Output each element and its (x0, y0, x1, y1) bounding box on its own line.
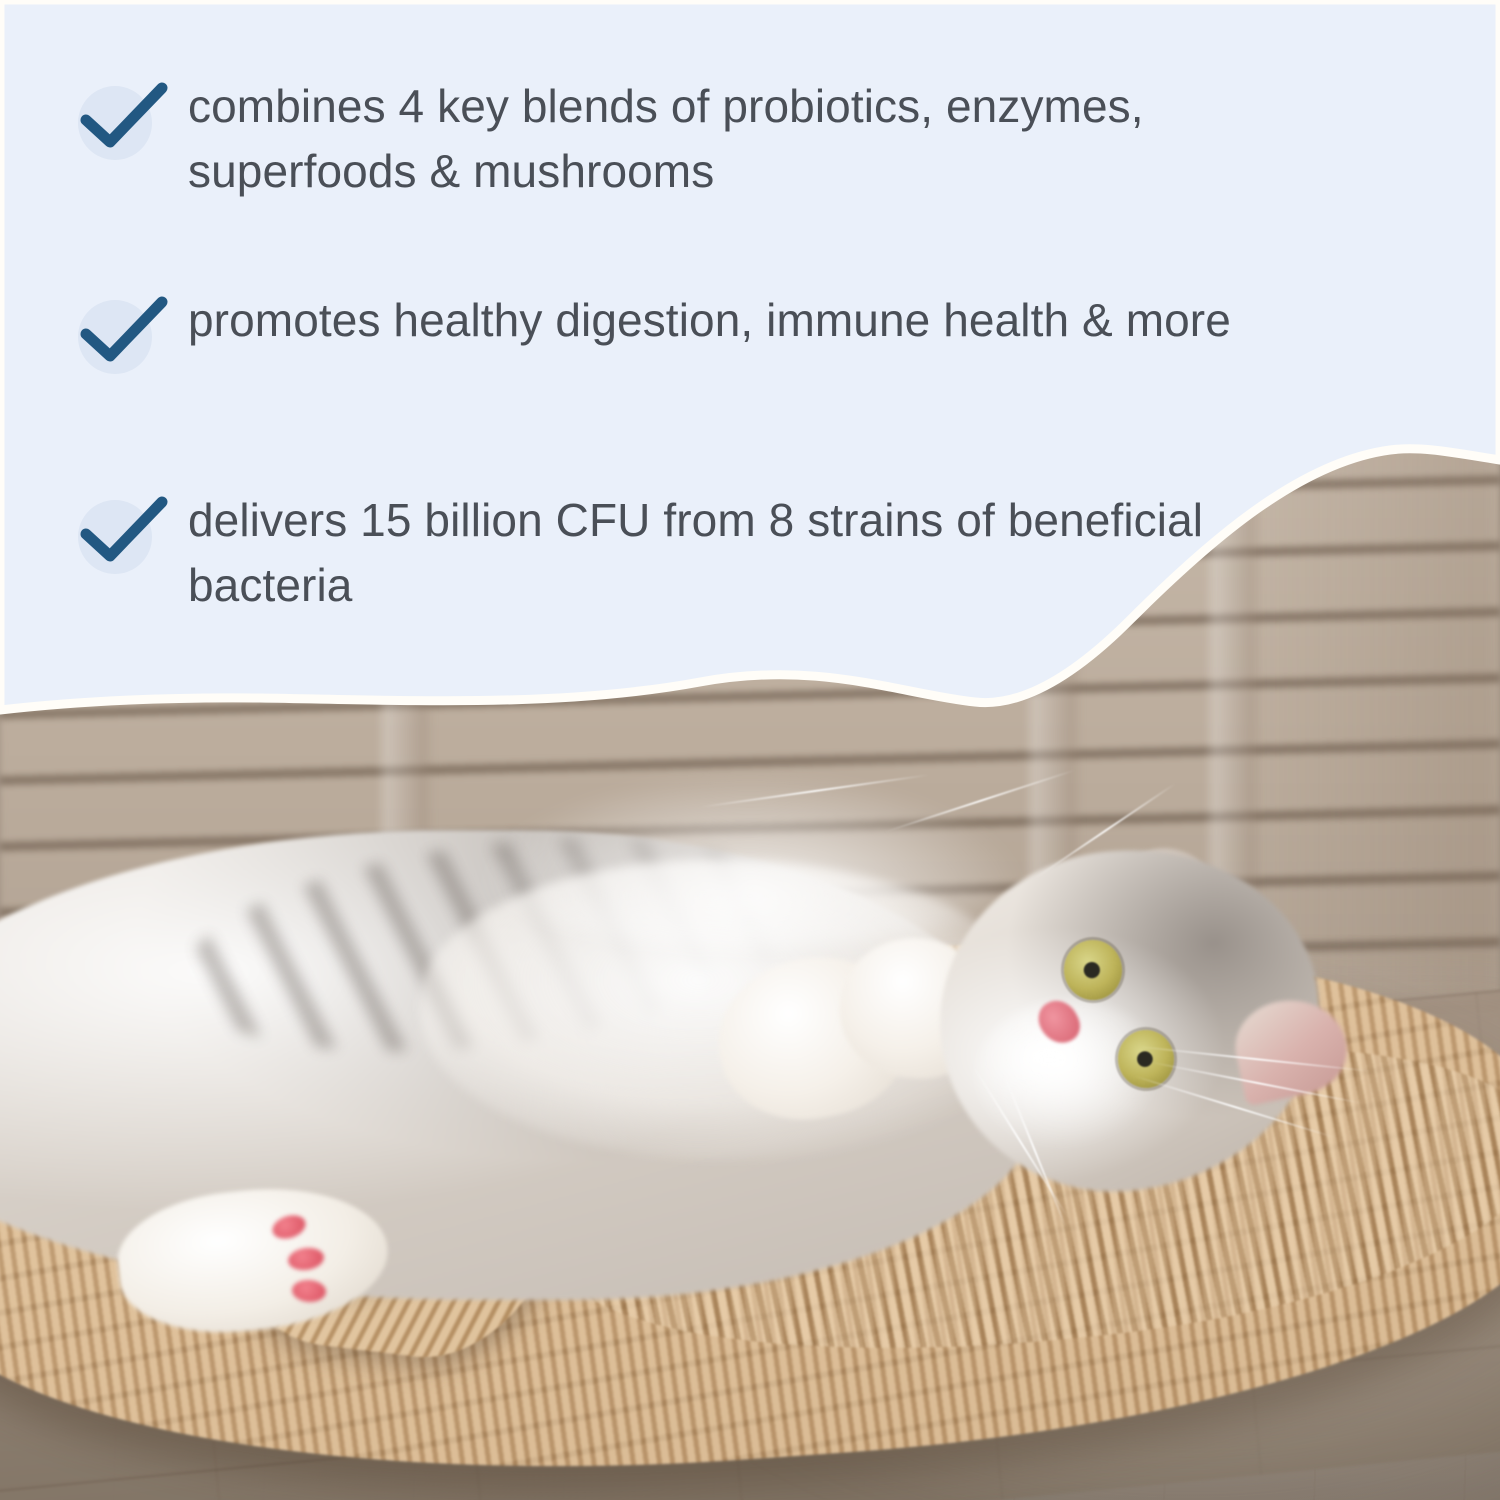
cat-photo (0, 0, 1500, 1500)
check-icon-glyph (70, 286, 188, 378)
benefit-item: delivers 15 billion CFU from 8 strains o… (70, 486, 1248, 619)
benefit-item: promotes healthy digestion, immune healt… (70, 286, 1231, 378)
check-icon (70, 72, 188, 164)
benefit-text: promotes healthy digestion, immune healt… (188, 286, 1231, 353)
benefit-item: combines 4 key blends of probiotics, enz… (70, 72, 1248, 205)
product-benefits-graphic: combines 4 key blends of probiotics, enz… (0, 0, 1500, 1500)
benefit-text: combines 4 key blends of probiotics, enz… (188, 72, 1248, 205)
cat-fur-fluff (470, 770, 1030, 950)
check-icon (70, 286, 188, 378)
benefit-text: delivers 15 billion CFU from 8 strains o… (188, 486, 1248, 619)
check-icon (70, 486, 188, 578)
check-icon-glyph (70, 486, 188, 578)
check-icon-glyph (70, 72, 188, 164)
